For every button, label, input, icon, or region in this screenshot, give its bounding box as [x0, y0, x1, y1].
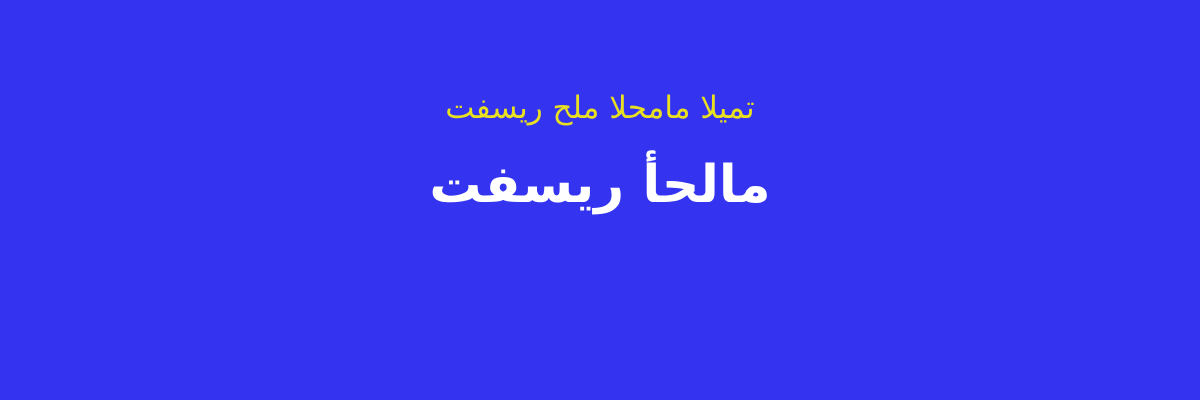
banner: تفسير حلم الحمام اليمت تفسير أحلام — [0, 0, 1200, 400]
banner-text-stack: تفسير حلم الحمام اليمت تفسير أحلام — [0, 0, 1200, 400]
banner-title: تفسير أحلام — [0, 148, 1200, 222]
banner-subtitle: تفسير حلم الحمام اليمت — [0, 86, 1200, 130]
